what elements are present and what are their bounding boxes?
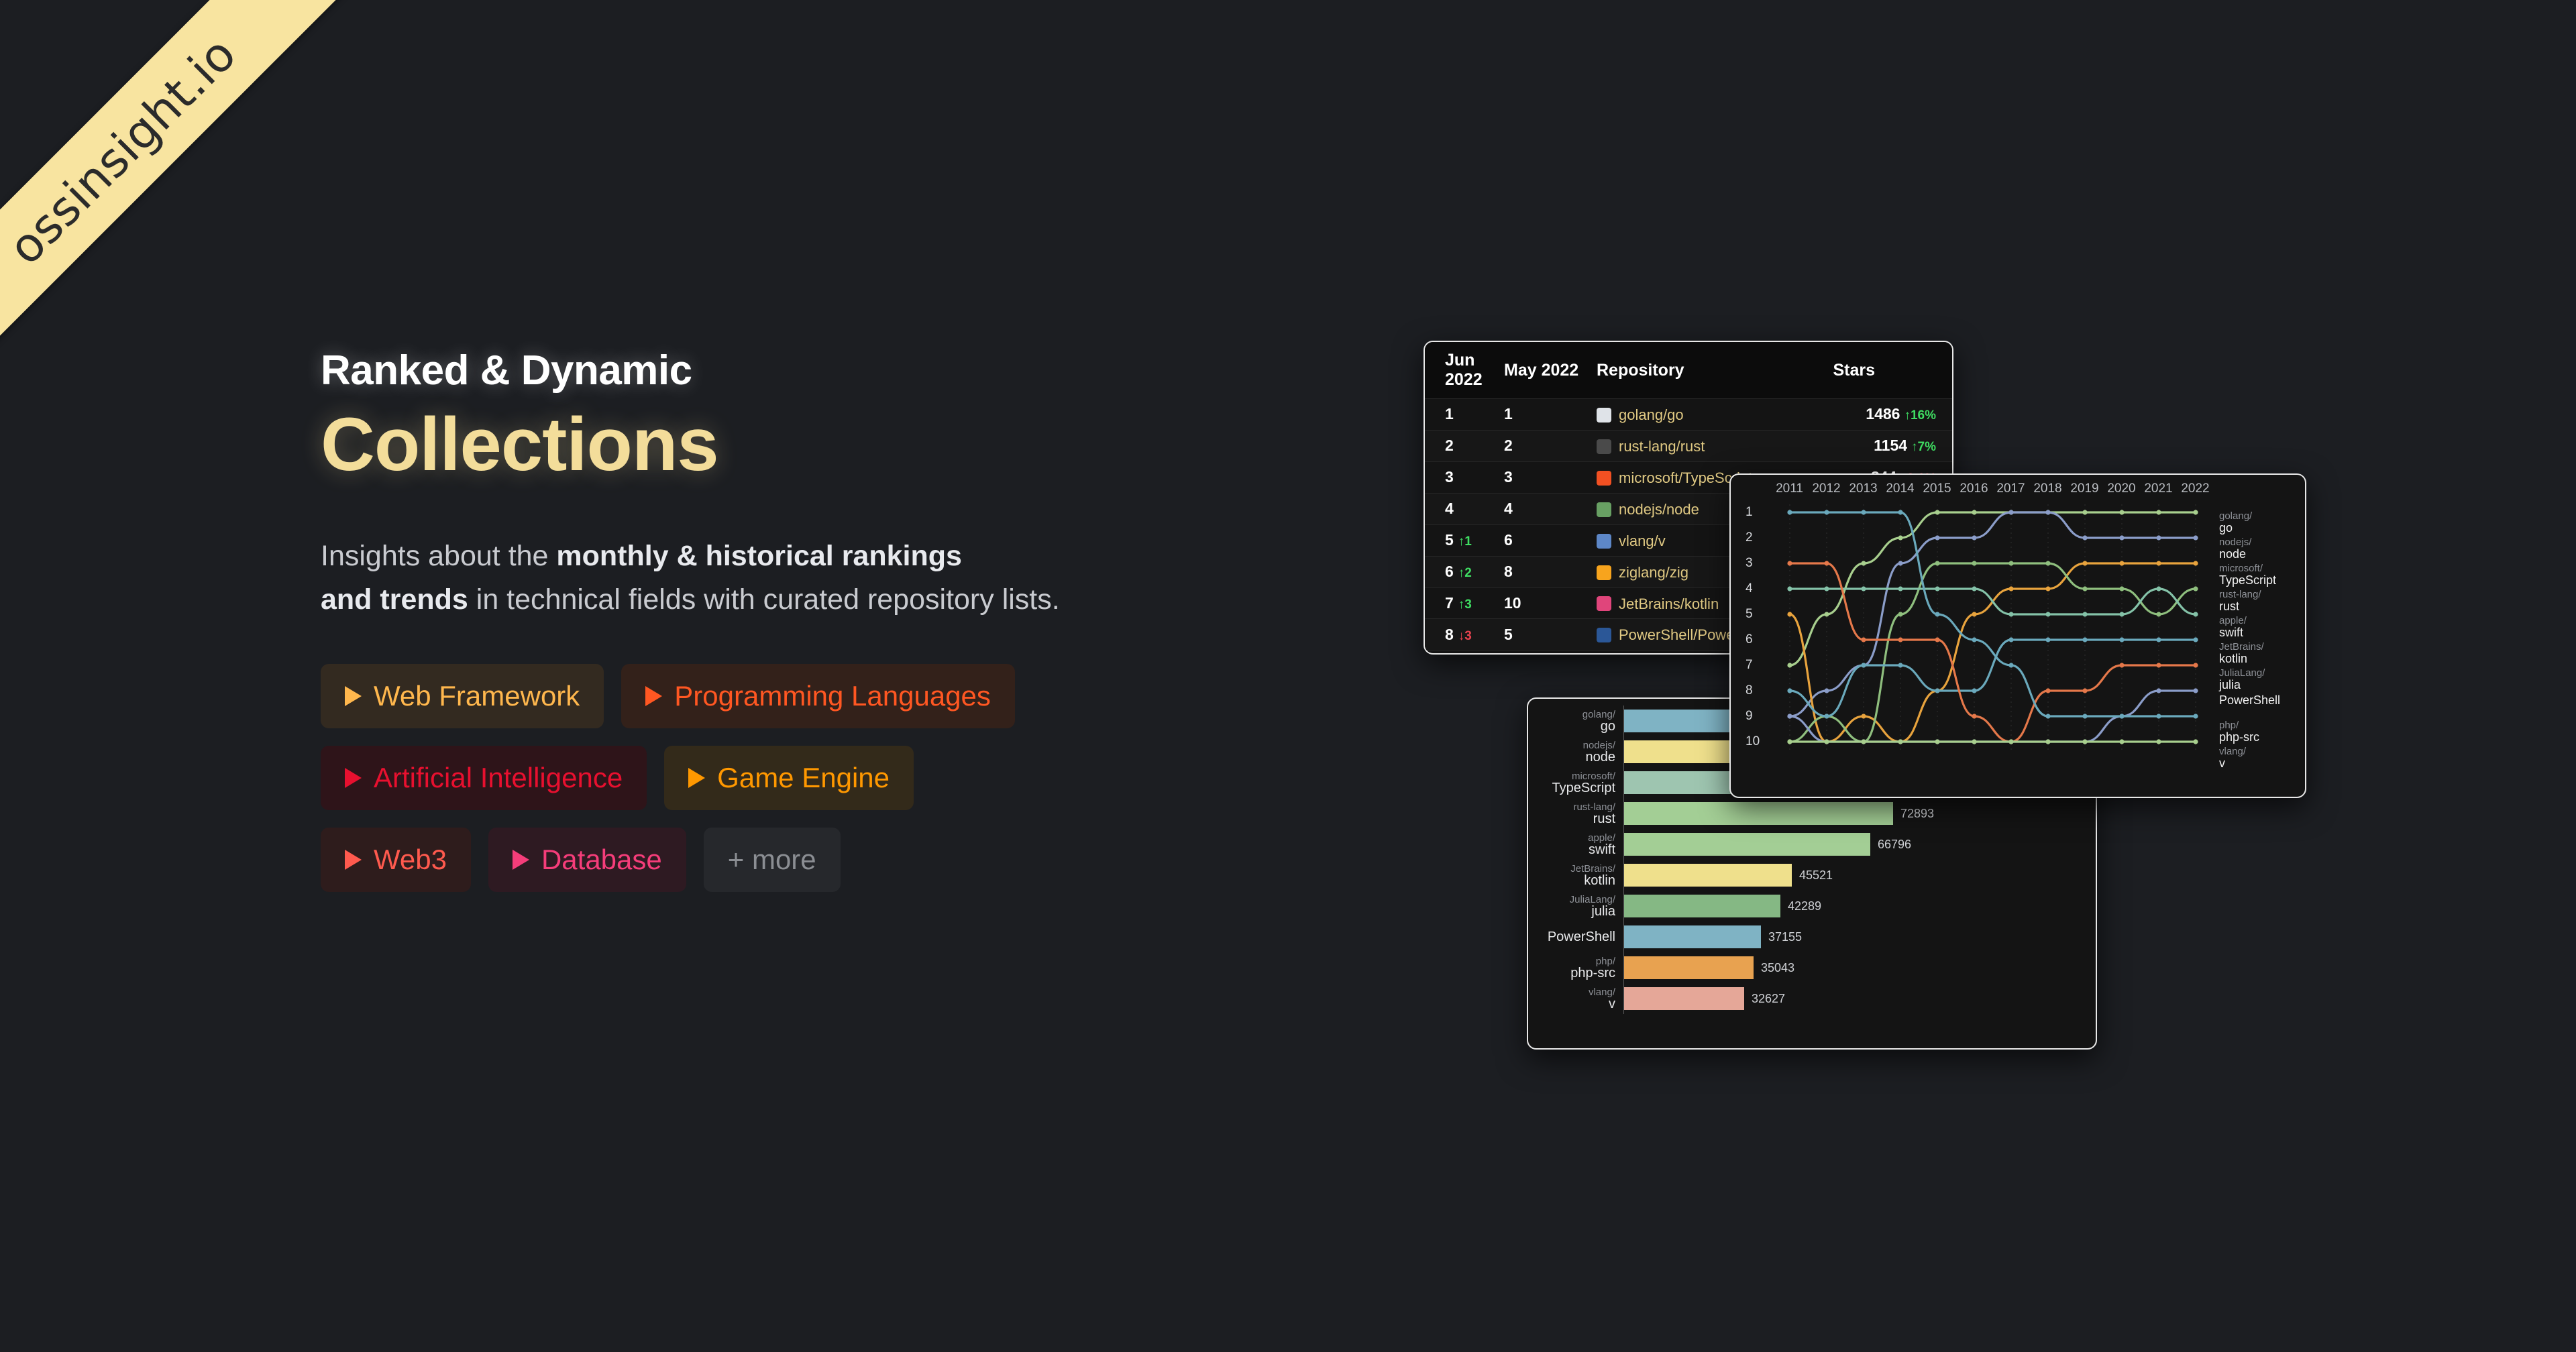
bar-repo-label: PowerShell (1528, 930, 1615, 944)
collection-chip-row: Artificial IntelligenceGame Engine (321, 746, 1367, 810)
bump-series-point (2193, 739, 2198, 744)
bump-year-tick: 2013 (1845, 482, 1882, 496)
bar-owner-label: apple/ (1528, 833, 1615, 843)
bump-series-point (2082, 612, 2087, 616)
bump-legend-owner: JuliaLang/ (2219, 668, 2300, 679)
bump-series-point (1972, 561, 1976, 565)
bump-series-point (1787, 561, 1792, 565)
bump-series-point (2156, 586, 2161, 591)
current-rank-value: 2 (1445, 437, 1454, 454)
bar-value-label: 37155 (1768, 930, 1802, 944)
bump-series-point (1861, 714, 1866, 718)
bump-series-point (1824, 561, 1829, 565)
repository-link[interactable]: rust-lang/rust (1619, 438, 1705, 455)
bar-chart-row: vlang/v32627 (1528, 983, 2096, 1014)
bump-year-tick: 2011 (1771, 482, 1808, 496)
bar-track: 66796 (1623, 829, 2096, 860)
cell-previous-rank: 4 (1504, 493, 1597, 524)
bump-legend-repo: go (2219, 522, 2300, 534)
bump-rank-tick: 6 (1746, 632, 1753, 647)
bar-track: 35043 (1623, 952, 2096, 983)
bar-owner-label: php/ (1528, 956, 1615, 966)
bump-rank-tick: 7 (1746, 658, 1753, 673)
bar-chart-row: JetBrains/kotlin45521 (1528, 860, 2096, 891)
bar-category-label: nodejs/node (1528, 740, 1623, 764)
bump-series-point (1898, 561, 1902, 565)
rank-up-arrow-icon: ↑3 (1458, 598, 1472, 612)
bump-chart-legend: golang/gonodejs/nodemicrosoft/TypeScript… (2219, 511, 2300, 773)
bump-series-point (2119, 535, 2124, 540)
play-triangle-icon (645, 686, 662, 706)
bar-owner-label: JuliaLang/ (1528, 895, 1615, 905)
stars-value: 1486 (1866, 405, 1900, 422)
historical-rank-chart-card[interactable]: 2011201220132014201520162017201820192020… (1729, 473, 2306, 798)
bump-series-point (1935, 586, 1939, 591)
bump-series-point (1935, 637, 1939, 642)
bump-series-point (1861, 739, 1866, 744)
bump-series-point (1861, 586, 1866, 591)
cell-previous-rank: 6 (1504, 524, 1597, 556)
bump-year-tick: 2016 (1955, 482, 1992, 496)
bump-series-point (2008, 739, 2013, 744)
bump-series-point (1824, 714, 1829, 718)
bar-repo-label: php-src (1528, 966, 1615, 980)
bump-legend-owner: php/ (2219, 720, 2300, 731)
repository-link[interactable]: vlang/v (1619, 532, 1666, 549)
bump-rank-tick: 2 (1746, 530, 1753, 545)
bump-series-point (2082, 688, 2087, 693)
bar-category-label: JetBrains/kotlin (1528, 864, 1623, 887)
cell-previous-rank: 1 (1504, 399, 1597, 431)
bump-series-point (1824, 586, 1829, 591)
bump-year-tick: 2020 (2103, 482, 2140, 496)
bump-series-line (1790, 512, 2196, 716)
repository-avatar-icon (1597, 502, 1611, 517)
bump-series-point (1935, 510, 1939, 514)
bump-legend-item: apple/swift (2219, 616, 2300, 642)
bump-legend-owner: golang/ (2219, 511, 2300, 522)
bar-repo-label: julia (1528, 905, 1615, 918)
collection-chip-label: Artificial Intelligence (374, 762, 623, 794)
bump-series-point (2045, 612, 2050, 616)
bump-legend-repo: rust (2219, 600, 2300, 613)
bump-series-point (1972, 586, 1976, 591)
cell-repository: rust-lang/rust (1597, 430, 1833, 461)
bump-series-point (2082, 714, 2087, 718)
bump-legend-item: PowerShell (2219, 694, 2300, 720)
bar-track: 45521 (1623, 860, 2096, 891)
bar-track: 42289 (1623, 891, 2096, 921)
bump-legend-repo: node (2219, 548, 2300, 561)
bump-legend-owner: apple/ (2219, 616, 2300, 626)
current-rank-value: 8 (1445, 626, 1454, 643)
repository-avatar-icon (1597, 408, 1611, 422)
current-rank-value: 4 (1445, 500, 1454, 517)
bump-legend-item: nodejs/node (2219, 537, 2300, 563)
repository-link[interactable]: nodejs/node (1619, 501, 1699, 518)
bar-category-label: microsoft/TypeScript (1528, 771, 1623, 795)
play-triangle-icon (688, 768, 705, 788)
hero-section: Ranked & Dynamic Collections Insights ab… (321, 349, 1367, 909)
bump-series-point (1972, 535, 1976, 540)
cell-previous-rank: 8 (1504, 556, 1597, 587)
bump-series-point (1787, 739, 1792, 744)
bar-repo-label: rust (1528, 812, 1615, 826)
collection-chip-web3[interactable]: Web3 (321, 828, 471, 892)
bar-owner-label: nodejs/ (1528, 740, 1615, 750)
bump-year-tick: 2017 (1992, 482, 2029, 496)
bar-category-label: vlang/v (1528, 987, 1623, 1011)
bump-legend-item: golang/go (2219, 511, 2300, 537)
bump-legend-owner: JetBrains/ (2219, 642, 2300, 653)
column-header-current-month: Jun 2022 (1425, 342, 1504, 399)
bump-legend-repo: kotlin (2219, 653, 2300, 665)
bump-series-point (2045, 586, 2050, 591)
hero-description: Insights about the monthly & historical … (321, 534, 1327, 622)
bump-series-point (2193, 561, 2198, 565)
bar-owner-label: vlang/ (1528, 987, 1615, 997)
bump-series-point (1972, 739, 1976, 744)
bump-series-point (2008, 663, 2013, 667)
bar-value-label: 72893 (1900, 807, 1934, 821)
bump-legend-item: vlang/v (2219, 746, 2300, 773)
bar-fill (1624, 987, 1744, 1010)
bump-series-point (2156, 663, 2161, 667)
cell-current-rank: 6↑2 (1425, 556, 1504, 587)
bump-series-point (1898, 535, 1902, 540)
bar-repo-label: swift (1528, 843, 1615, 856)
bump-series-point (1935, 561, 1939, 565)
collection-chip-label: + more (728, 844, 816, 876)
bar-value-label: 42289 (1788, 899, 1821, 913)
bump-legend-repo: julia (2219, 679, 2300, 691)
bar-fill (1624, 895, 1780, 917)
bump-series-point (2193, 586, 2198, 591)
collection-chip-label: Web Framework (374, 680, 580, 712)
bump-series-point (1861, 663, 1866, 667)
table-header-row: Jun 2022 May 2022 Repository Stars (1425, 342, 1952, 399)
cell-previous-rank: 9 (1504, 651, 1597, 655)
bump-legend-item: php/php-src (2219, 720, 2300, 746)
bump-series-point (2156, 510, 2161, 514)
ribbon-label: ossinsight.io (0, 26, 247, 275)
bump-legend-owner: vlang/ (2219, 746, 2300, 757)
bump-year-tick: 2015 (1919, 482, 1955, 496)
bump-series-point (2082, 535, 2087, 540)
bump-series-point (2119, 586, 2124, 591)
bump-legend-item: microsoft/TypeScript (2219, 563, 2300, 589)
bar-chart-row: JuliaLang/julia42289 (1528, 891, 2096, 921)
bump-series-point (2045, 739, 2050, 744)
bump-series-point (2119, 510, 2124, 514)
bump-series-point (2082, 561, 2087, 565)
cell-stars: 1154↑7% (1833, 430, 1953, 461)
bar-chart-row: rust-lang/rust72893 (1528, 798, 2096, 829)
current-rank-value: 3 (1445, 468, 1454, 486)
bump-series-point (1935, 688, 1939, 693)
bar-chart-row: php/php-src35043 (1528, 952, 2096, 983)
bump-series-line (1790, 589, 2196, 614)
rank-up-arrow-icon: ↑1 (1458, 534, 1472, 549)
bump-series-point (2119, 612, 2124, 616)
bump-series-point (2193, 663, 2198, 667)
bump-legend-item: JuliaLang/julia (2219, 668, 2300, 694)
repository-avatar-icon (1597, 628, 1611, 642)
stars-trend-up-icon: ↑7% (1911, 440, 1936, 454)
bump-series-point (2119, 663, 2124, 667)
lede-line2-plain: in technical fields with curated reposit… (468, 583, 1060, 616)
bump-rank-tick: 4 (1746, 581, 1753, 596)
bar-owner-label: JetBrains/ (1528, 864, 1615, 874)
column-header-repository: Repository (1597, 342, 1833, 399)
bump-series-point (2008, 637, 2013, 642)
bump-legend-repo: PowerShell (2219, 694, 2300, 707)
repository-avatar-icon (1597, 534, 1611, 549)
bump-series-point (1861, 561, 1866, 565)
bar-category-label: rust-lang/rust (1528, 802, 1623, 826)
bump-series-point (1935, 535, 1939, 540)
bump-legend-repo: swift (2219, 626, 2300, 639)
bump-series-point (2193, 612, 2198, 616)
bump-series-point (1898, 637, 1902, 642)
bump-series-point (2045, 714, 2050, 718)
play-triangle-icon (345, 768, 362, 788)
bump-series-point (2082, 586, 2087, 591)
cell-current-rank: 3 (1425, 461, 1504, 493)
bump-series-point (2045, 561, 2050, 565)
stars-trend-up-icon: ↑16% (1904, 408, 1936, 422)
bump-rank-tick: 5 (1746, 607, 1753, 622)
lede-line2-bold: and trends (321, 583, 468, 616)
bump-series-point (2156, 612, 2161, 616)
bump-series-point (1861, 510, 1866, 514)
bump-rank-tick: 10 (1746, 734, 1760, 749)
collection-chip-label: Database (541, 844, 662, 876)
collection-chip-row: Web FrameworkProgramming Languages (321, 664, 1367, 728)
bump-series-point (1824, 612, 1829, 616)
hero-eyebrow: Ranked & Dynamic (321, 349, 1367, 392)
bar-repo-label: v (1528, 997, 1615, 1011)
bump-rank-tick: 8 (1746, 683, 1753, 698)
table-row[interactable]: 22rust-lang/rust1154↑7% (1425, 430, 1952, 461)
cell-previous-rank: 3 (1504, 461, 1597, 493)
repository-avatar-icon (1597, 439, 1611, 454)
cell-current-rank: 1 (1425, 399, 1504, 431)
bar-fill (1624, 925, 1761, 948)
stars-value: 1154 (1874, 437, 1907, 454)
repository-link[interactable]: golang/go (1619, 406, 1684, 423)
bump-year-tick: 2018 (2029, 482, 2066, 496)
bump-series-point (2082, 739, 2087, 744)
bar-value-label: 45521 (1799, 868, 1833, 883)
bump-series-point (1935, 612, 1939, 616)
cell-previous-rank: 2 (1504, 430, 1597, 461)
current-rank-value: 6 (1445, 563, 1454, 580)
bar-category-label: php/php-src (1528, 956, 1623, 980)
bump-series-point (2119, 714, 2124, 718)
repository-link[interactable]: JetBrains/kotlin (1619, 595, 1719, 612)
bump-series-point (2008, 510, 2013, 514)
cell-current-rank: 7↑3 (1425, 587, 1504, 619)
bump-series-point (2156, 714, 2161, 718)
column-header-previous-month: May 2022 (1504, 342, 1597, 399)
play-triangle-icon (513, 850, 529, 870)
bump-series-point (2119, 739, 2124, 744)
bump-series-point (2156, 739, 2161, 744)
bar-owner-label: rust-lang/ (1528, 802, 1615, 812)
bar-chart-row: PowerShell37155 (1528, 921, 2096, 952)
cell-current-rank: 9 (1425, 651, 1504, 655)
bump-legend-owner: microsoft/ (2219, 563, 2300, 574)
cell-current-rank: 8↓3 (1425, 619, 1504, 651)
bump-legend-item: JetBrains/kotlin (2219, 642, 2300, 668)
collection-chip-label: Programming Languages (674, 680, 991, 712)
bump-chart-x-axis: 2011201220132014201520162017201820192020… (1731, 475, 2305, 496)
bump-series-point (2193, 510, 2198, 514)
bump-series-point (1898, 586, 1902, 591)
bump-series-point (2008, 612, 2013, 616)
cell-current-rank: 5↑1 (1425, 524, 1504, 556)
bump-year-tick: 2021 (2140, 482, 2177, 496)
bar-repo-label: go (1528, 720, 1615, 733)
current-rank-value: 1 (1445, 405, 1454, 422)
bump-legend-item: rust-lang/rust (2219, 589, 2300, 616)
lede-line1-plain: Insights about the (321, 540, 556, 572)
bump-year-tick: 2012 (1808, 482, 1845, 496)
bump-series-point (1861, 637, 1866, 642)
bar-track: 72893 (1623, 798, 2096, 829)
collection-chip-row: Web3Database+ more (321, 828, 1367, 892)
bump-series-point (1787, 612, 1792, 616)
bump-rank-tick: 1 (1746, 505, 1753, 520)
collection-chip-database[interactable]: Database (488, 828, 686, 892)
bump-series-point (1787, 510, 1792, 514)
bump-series-point (2193, 714, 2198, 718)
bump-series-point (2156, 535, 2161, 540)
bar-category-label: golang/go (1528, 710, 1623, 733)
rank-down-arrow-icon: ↓3 (1458, 629, 1472, 643)
bar-track: 32627 (1623, 983, 2096, 1014)
collection-chip-more[interactable]: + more (704, 828, 841, 892)
bump-series-point (2082, 510, 2087, 514)
bar-owner-label: microsoft/ (1528, 771, 1615, 781)
bump-series-point (1935, 739, 1939, 744)
bump-series-point (1898, 663, 1902, 667)
bump-series-point (2008, 586, 2013, 591)
table-row[interactable]: 11golang/go1486↑16% (1425, 399, 1952, 431)
bump-series-point (1787, 663, 1792, 667)
column-header-stars: Stars (1833, 342, 1953, 399)
bump-series-point (2193, 637, 2198, 642)
bump-series-point (1972, 510, 1976, 514)
collection-chip-label: Game Engine (717, 762, 890, 794)
bump-series-point (1898, 510, 1902, 514)
collection-chip-programming-languages[interactable]: Programming Languages (621, 664, 1015, 728)
collection-chip-game-engine[interactable]: Game Engine (664, 746, 914, 810)
bar-owner-label: golang/ (1528, 710, 1615, 720)
play-triangle-icon (345, 686, 362, 706)
bump-legend-owner: nodejs/ (2219, 537, 2300, 548)
bump-series-point (2156, 637, 2161, 642)
collection-chip-label: Web3 (374, 844, 447, 876)
bump-year-tick: 2022 (2177, 482, 2214, 496)
bump-series-line (1790, 512, 2196, 716)
collection-chip-artificial-intelligence[interactable]: Artificial Intelligence (321, 746, 647, 810)
bar-value-label: 35043 (1761, 961, 1794, 975)
cell-previous-rank: 5 (1504, 619, 1597, 651)
bump-series-point (2193, 535, 2198, 540)
bar-fill (1624, 833, 1870, 856)
bump-series-point (2045, 688, 2050, 693)
current-rank-value: 7 (1445, 594, 1454, 612)
bar-category-label: PowerShell (1528, 930, 1623, 944)
bump-series-point (1972, 612, 1976, 616)
bump-legend-repo: v (2219, 757, 2300, 770)
bump-series-point (2156, 561, 2161, 565)
bar-repo-label: node (1528, 750, 1615, 764)
bar-fill (1624, 864, 1792, 887)
bump-series-point (1787, 688, 1792, 693)
bump-chart-plot-area: 12345678910 golang/gonodejs/nodemicrosof… (1731, 496, 2305, 778)
bar-track: 37155 (1623, 921, 2096, 952)
bar-category-label: apple/swift (1528, 833, 1623, 856)
bump-series-point (2119, 561, 2124, 565)
bump-series-point (1898, 612, 1902, 616)
bar-fill (1624, 802, 1893, 825)
bar-repo-label: kotlin (1528, 874, 1615, 887)
bump-series-point (2045, 637, 2050, 642)
cell-previous-rank: 10 (1504, 587, 1597, 619)
rank-up-arrow-icon: ↑2 (1458, 566, 1472, 580)
collection-chip-web-framework[interactable]: Web Framework (321, 664, 604, 728)
bump-series-point (2193, 688, 2198, 693)
bump-series-point (1824, 510, 1829, 514)
bar-category-label: JuliaLang/julia (1528, 895, 1623, 918)
bump-series-point (1972, 688, 1976, 693)
bump-series-point (1898, 739, 1902, 744)
bar-fill (1624, 956, 1754, 979)
repository-avatar-icon (1597, 596, 1611, 611)
collection-chip-groups: Web FrameworkProgramming LanguagesArtifi… (321, 664, 1367, 892)
lede-line1-bold: monthly & historical rankings (556, 540, 962, 572)
bump-series-point (2082, 637, 2087, 642)
cell-repository: golang/go (1597, 399, 1833, 431)
bump-series-point (1824, 688, 1829, 693)
table-header: Jun 2022 May 2022 Repository Stars (1425, 342, 1952, 399)
bump-series-point (2156, 688, 2161, 693)
bar-value-label: 66796 (1878, 838, 1911, 852)
bump-series-point (1972, 637, 1976, 642)
bump-legend-repo: TypeScript (2219, 574, 2300, 587)
bar-value-label: 32627 (1752, 992, 1785, 1006)
bump-year-tick: 2014 (1882, 482, 1919, 496)
bump-series-point (2119, 637, 2124, 642)
bump-series-point (1824, 739, 1829, 744)
bar-chart-row: apple/swift66796 (1528, 829, 2096, 860)
bump-year-tick: 2019 (2066, 482, 2103, 496)
repository-link[interactable]: ziglang/zig (1619, 564, 1688, 581)
bump-legend-repo: php-src (2219, 731, 2300, 744)
bump-series-point (1787, 586, 1792, 591)
play-triangle-icon (345, 850, 362, 870)
repository-avatar-icon (1597, 471, 1611, 486)
current-rank-value: 5 (1445, 531, 1454, 549)
page-title: Collections (321, 407, 1367, 482)
cell-current-rank: 4 (1425, 493, 1504, 524)
bump-rank-tick: 9 (1746, 709, 1753, 724)
bump-rank-tick: 3 (1746, 556, 1753, 571)
bump-series-point (1787, 714, 1792, 718)
